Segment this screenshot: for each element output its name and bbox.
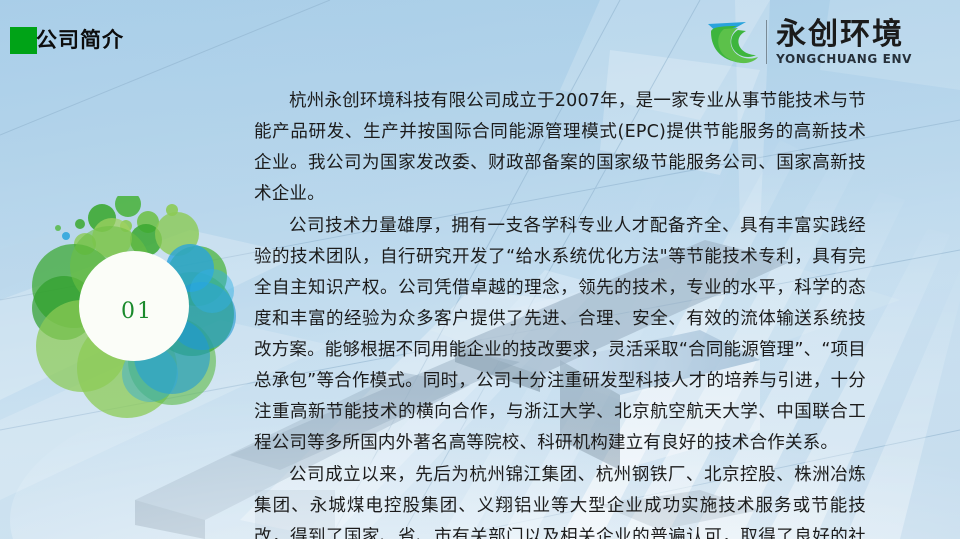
page-title: 公司简介 [36,25,124,55]
logo-swoosh-icon [704,17,760,67]
slide-root: 公司简介 永创环境 YONGCHUANG ENV [0,0,960,539]
logo-name-cn: 永创环境 [776,18,912,51]
paragraph-2: 公司技术力量雄厚，拥有一支各学科专业人才配备齐全、具有丰富实践经验的技术团队，自… [254,211,866,459]
logo-divider [766,20,767,64]
paragraph-3: 公司成立以来，先后为杭州锦江集团、杭州钢铁厂、北京控股、株洲冶炼集团、永城煤电控… [254,460,866,539]
decor-circle-cluster: 01 [22,196,252,426]
logo-text-block: 永创环境 YONGCHUANG ENV [776,18,912,66]
logo-name-en: YONGCHUANG ENV [776,52,912,66]
content-body: 杭州永创环境科技有限公司成立于2007年，是一家专业从事节能技术与节能产品研发、… [254,86,866,539]
title-marker-square [10,27,37,54]
paragraph-1: 杭州永创环境科技有限公司成立于2007年，是一家专业从事节能技术与节能产品研发、… [254,86,866,210]
company-logo: 永创环境 YONGCHUANG ENV [704,17,912,67]
decor-circles-svg [22,196,252,426]
